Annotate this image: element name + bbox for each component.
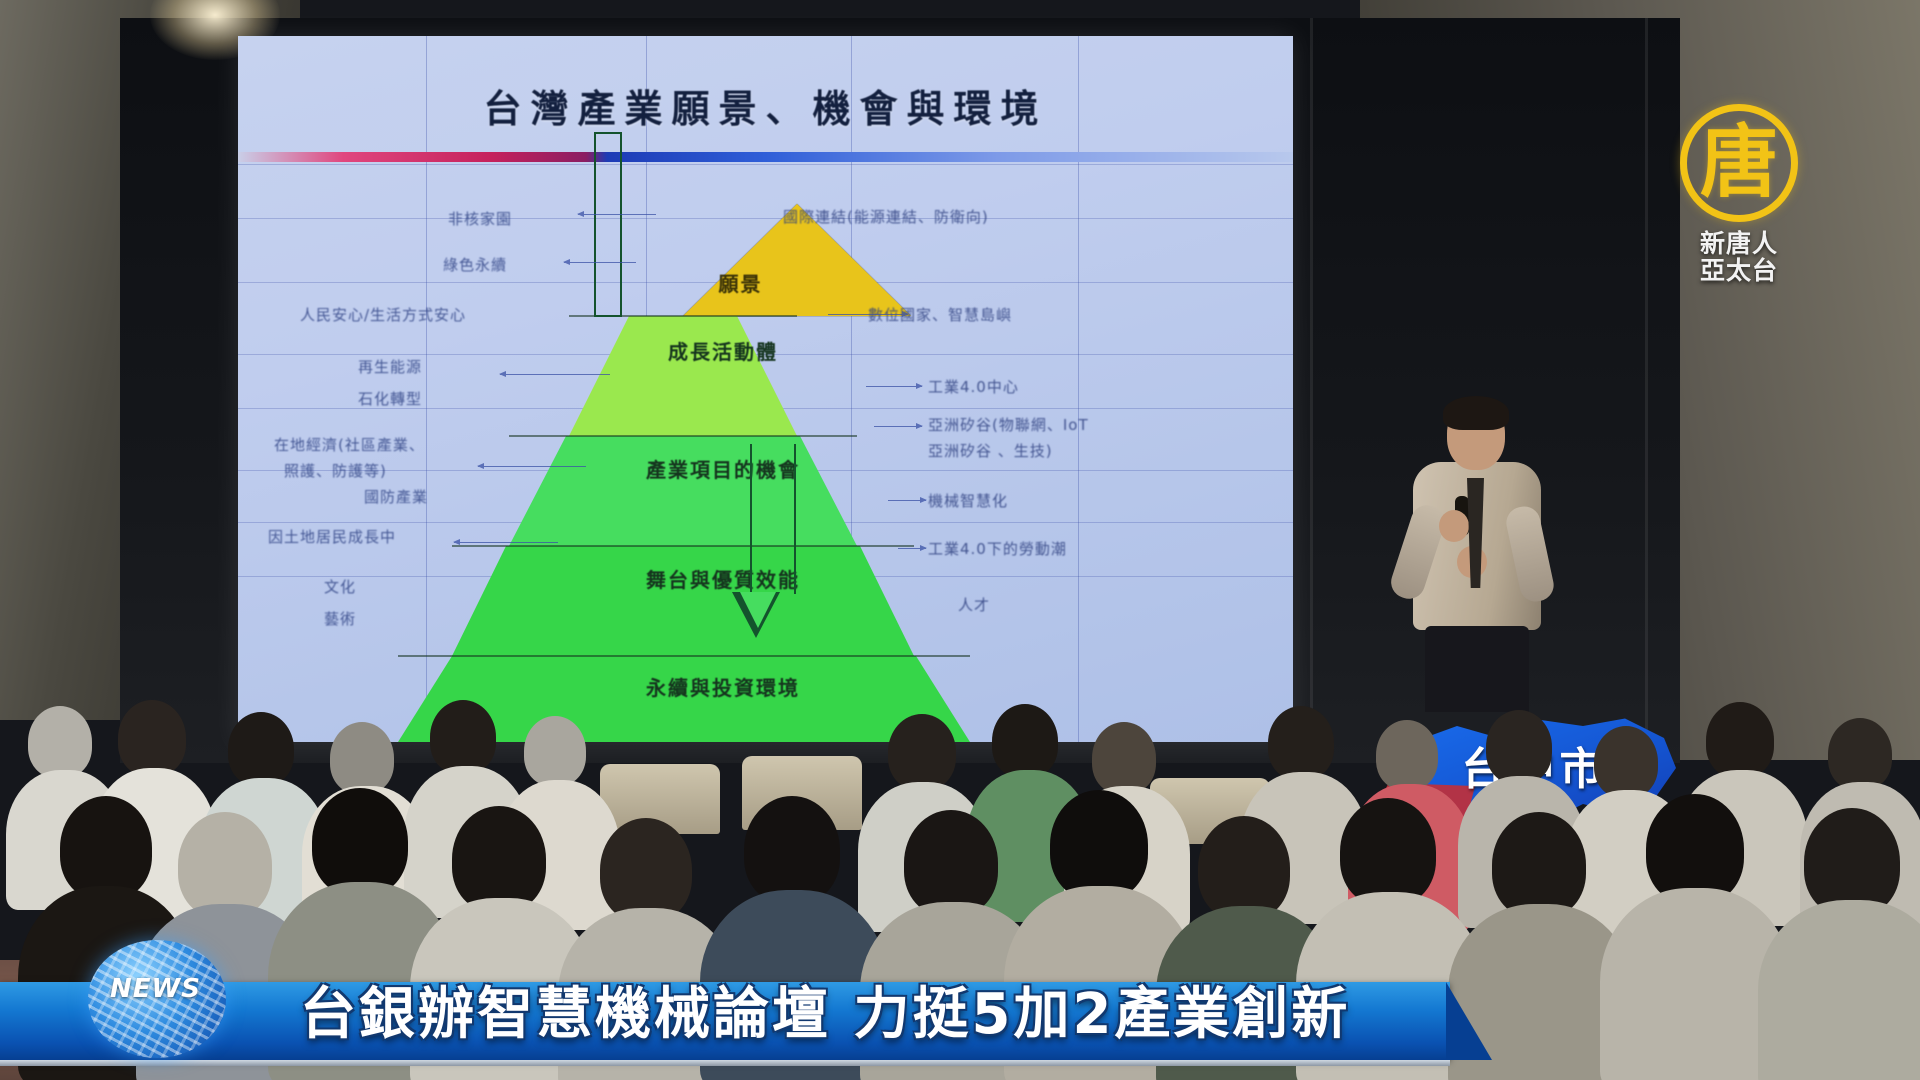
slide-annotation-right: 亞洲矽谷(物聯網、IoT (928, 414, 1089, 435)
audience-head (992, 704, 1058, 778)
pyramid-label-stage: 舞台與優質效能 (558, 564, 888, 593)
slide-annotation-left: 非核家園 (448, 208, 512, 229)
pyramid-level-opportunity (509, 436, 857, 546)
annotation-arrow (828, 314, 908, 315)
pyramid-label-opportunity: 產業項目的機會 (563, 454, 883, 483)
station-name-line2: 亞太台 (1654, 257, 1824, 284)
audience-head (1092, 722, 1156, 794)
annotation-arrow (866, 386, 922, 387)
broadcast-frame: 台灣產業願景、機會與環境 願景 成長活動體 產業項目的機會 舞台與優質效能 永續… (0, 0, 1920, 1080)
audience-head (1706, 702, 1774, 778)
annotation-arrow (454, 542, 558, 543)
audience-head-front (1492, 812, 1586, 918)
slide-annotation-left: 石化轉型 (358, 388, 422, 409)
audience-head-front (600, 818, 692, 922)
audience-head (430, 700, 496, 774)
slide-annotation-left: 國防產業 (364, 486, 428, 507)
audience-head-front (904, 810, 998, 916)
station-logo: 唐 新唐人 亞太台 (1654, 104, 1824, 300)
audience-head (888, 714, 956, 790)
slide-annotation-right: 國際連結(能源連結、防衛向) (783, 206, 989, 227)
pyramid-divider (509, 435, 857, 437)
slide-title: 台灣產業願景、機會與環境 (238, 78, 1293, 133)
audience-head (1268, 706, 1334, 780)
slide-annotation-right: 工業4.0中心 (928, 376, 1019, 397)
annotation-arrow (578, 214, 656, 215)
slide-guide-line (1078, 36, 1079, 742)
slide-annotation-left: 人民安心/生活方式安心 (300, 304, 466, 325)
slide-annotation-left: 文化 (324, 576, 356, 597)
audience-head (1376, 720, 1438, 790)
audience-head-front (178, 812, 272, 918)
station-name-line1: 新唐人 (1654, 230, 1824, 257)
slide-annotation-right: 工業4.0下的勞動潮 (928, 538, 1067, 559)
slide-annotation-left: 藝術 (324, 608, 356, 629)
pyramid-level-growth (569, 316, 797, 436)
slide-annotation-left: 在地經濟(社區產業、 (274, 434, 425, 455)
audience-head (1594, 726, 1658, 798)
annotation-arrow (874, 426, 922, 427)
annotation-arrow (500, 374, 610, 375)
presenter-hand-left (1439, 510, 1469, 542)
audience-head-front (312, 788, 408, 896)
annotation-arrow (478, 466, 586, 467)
headline-text: 台銀辦智慧機械論壇 力挺5加2產業創新 (300, 969, 1350, 1050)
audience-head-front (1198, 816, 1290, 920)
slide-annotation-right: 人才 (958, 594, 990, 615)
audience-head-front (452, 806, 546, 912)
slide-annotation-left: 因土地居民成長中 (268, 526, 396, 547)
slide-annotation-left: 照護、防護等) (284, 460, 387, 481)
slide-guide-line (426, 36, 427, 742)
annotation-arrow (888, 500, 926, 501)
projection-screen: 台灣產業願景、機會與環境 願景 成長活動體 產業項目的機會 舞台與優質效能 永續… (238, 36, 1293, 742)
annotation-arrow (898, 548, 926, 549)
panel-seam (1310, 18, 1313, 763)
slide-annotation-right: 機械智慧化 (928, 490, 1008, 511)
pyramid-level-stage (452, 546, 914, 656)
pyramid-label-vision: 願景 (663, 268, 818, 297)
slide-title-rule (238, 152, 1293, 162)
audience-head (28, 706, 92, 778)
pyramid-label-growth: 成長活動體 (608, 336, 838, 365)
pyramid-divider (452, 545, 914, 547)
audience-head-front (1340, 798, 1436, 906)
audience-head (1828, 718, 1892, 790)
audience-head (118, 700, 186, 776)
annotation-arrow (564, 262, 636, 263)
audience-head (228, 712, 294, 786)
tang-circle-icon: 唐 (1680, 104, 1798, 222)
panel-seam (1645, 18, 1648, 763)
audience-head (1486, 710, 1552, 784)
pyramid-divider (398, 655, 970, 657)
audience-head (330, 722, 394, 794)
lower-third: NEWS 台銀辦智慧機械論壇 力挺5加2產業創新 (0, 968, 1560, 1060)
audience-head (524, 716, 586, 786)
tang-glyph: 唐 (1687, 111, 1791, 215)
lower-third-tail (1446, 982, 1492, 1060)
audience-head-front (60, 796, 152, 900)
slide-guide-line (238, 164, 1293, 165)
slide-annotation-right: 亞洲矽谷 、生技) (928, 440, 1053, 461)
slide-annotation-left: 綠色永續 (443, 254, 507, 275)
presenter-hair (1443, 396, 1509, 430)
slide-annotation-left: 再生能源 (358, 356, 422, 377)
audience-head-front (1050, 790, 1148, 900)
news-label: NEWS (110, 974, 201, 1004)
audience-body-front (1758, 900, 1920, 1080)
station-name: 新唐人 亞太台 (1654, 230, 1824, 284)
audience-head-front (744, 796, 840, 904)
